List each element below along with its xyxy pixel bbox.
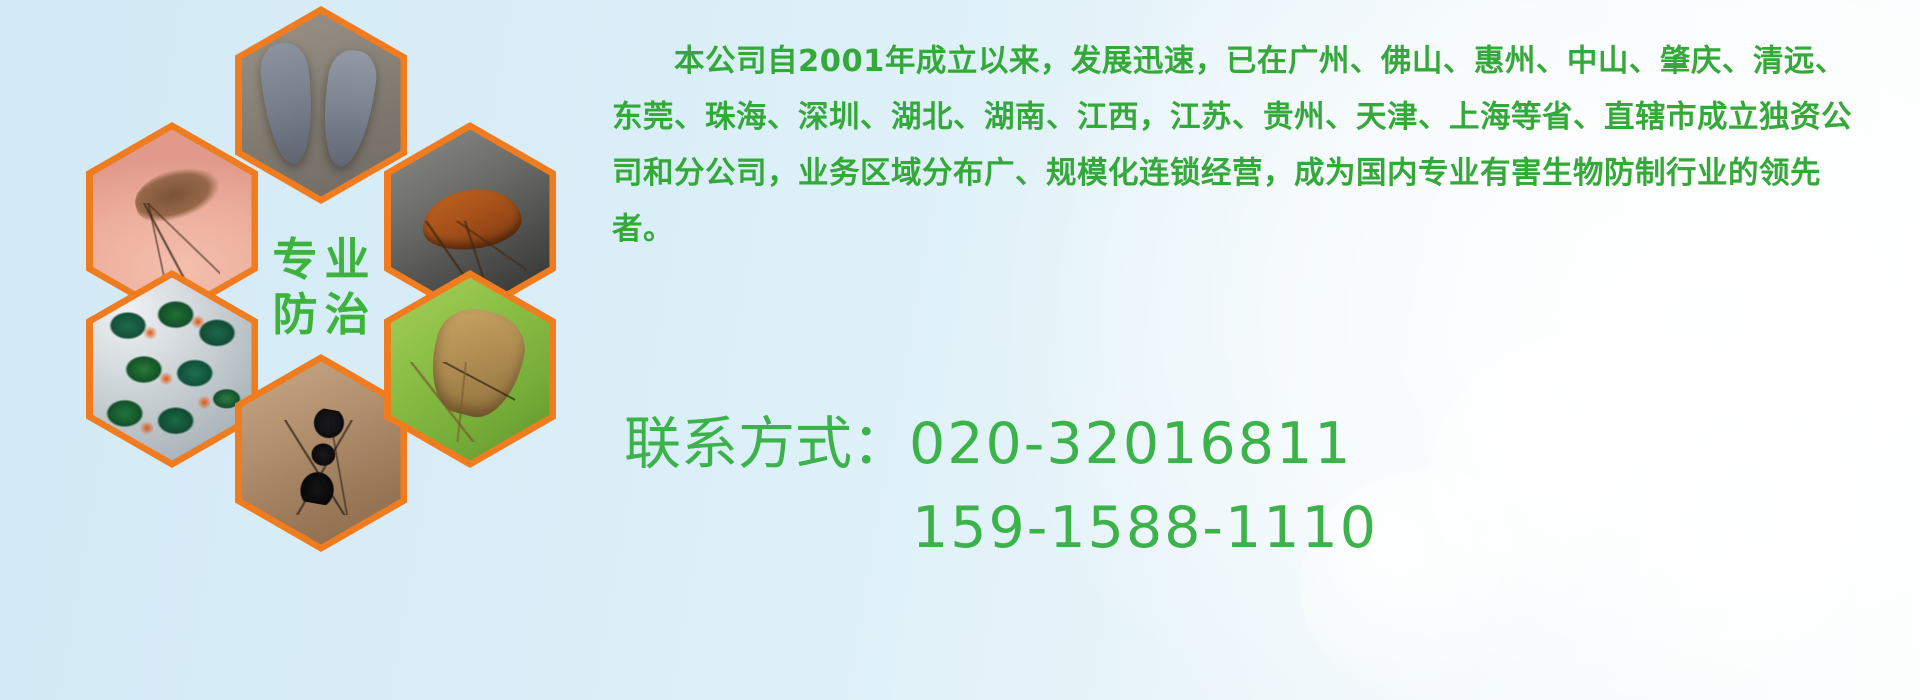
collage-center-slogan: 专业 防治 <box>235 188 407 386</box>
company-description-block: 本公司自2001年成立以来，发展迅速，已在广州、佛山、惠州、中山、肇庆、清远、东… <box>612 34 1870 258</box>
hex-cell-flies <box>86 270 258 468</box>
hex-cell-stinkbug <box>384 270 556 468</box>
contact-phone-secondary[interactable]: 159-1588-1110 <box>912 495 1378 561</box>
contact-primary-line: 联系方式：020-32016811 <box>624 402 1824 486</box>
slogan-line-1: 专业 <box>265 236 376 283</box>
rats-photo <box>242 14 401 197</box>
flies-photo <box>93 278 252 461</box>
contact-secondary-line: 159-1588-1110 <box>624 486 1824 570</box>
hex-photo-collage: 专业 防治 <box>86 0 606 572</box>
pest-control-banner: 专业 防治 本公司自2001年成立以来，发展迅速，已在广州、佛山、惠州、中山、肇… <box>0 0 1920 700</box>
contact-phone-primary[interactable]: 020-32016811 <box>909 411 1352 477</box>
company-description-text: 本公司自2001年成立以来，发展迅速，已在广州、佛山、惠州、中山、肇庆、清远、东… <box>612 34 1870 258</box>
hex-cell-rats <box>235 6 407 204</box>
slogan-line-2: 防治 <box>265 291 376 338</box>
ant-photo <box>242 362 401 545</box>
stinkbug-photo <box>391 278 550 461</box>
contact-block: 联系方式：020-32016811 159-1588-1110 <box>624 402 1824 570</box>
contact-label: 联系方式： <box>624 411 909 477</box>
